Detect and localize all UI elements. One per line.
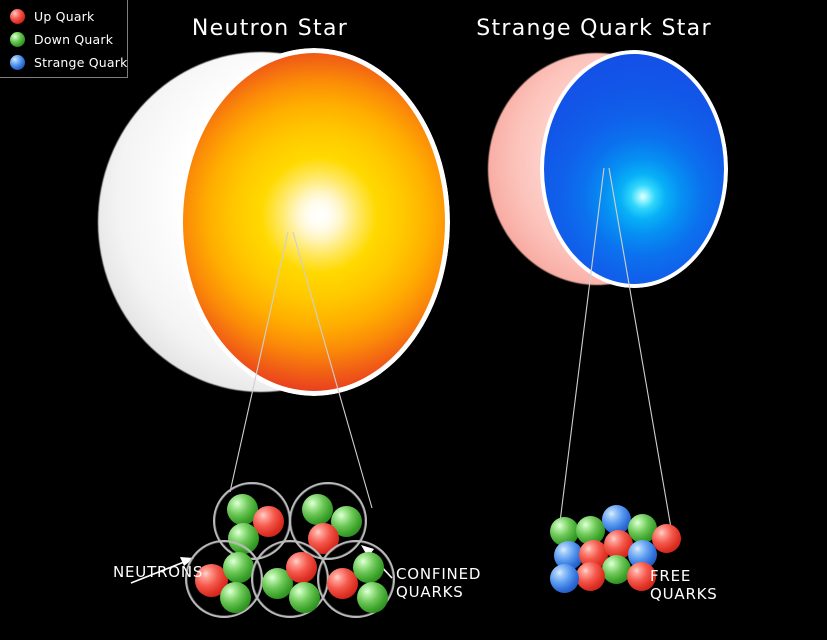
legend-item-down-quark: Down Quark	[10, 28, 113, 50]
neutrons-callout-label: NEUTRONS	[113, 563, 203, 581]
down-quark-sphere	[353, 552, 384, 583]
up-quark-sphere	[286, 552, 317, 583]
up-quark-sphere	[576, 562, 605, 591]
strange-quark-sphere	[550, 564, 579, 593]
neutron-cluster	[185, 482, 395, 602]
strange-quark-star-title: Strange Quark Star	[468, 16, 720, 41]
confined-quarks-callout-label: CONFINED QUARKS	[396, 565, 481, 601]
neutron-star-title: Neutron Star	[160, 16, 380, 41]
strange-quark-dot-icon	[10, 55, 25, 70]
up-quark-sphere	[652, 524, 681, 553]
legend-item-up-quark: Up Quark	[10, 5, 94, 27]
diagram-canvas: Up Quark Down Quark Strange Quark Neutro…	[0, 0, 827, 640]
neutron-shell	[317, 540, 395, 618]
down-quark-dot-icon	[10, 32, 25, 47]
legend-panel: Up Quark Down Quark Strange Quark	[0, 0, 128, 78]
down-quark-sphere	[220, 582, 251, 613]
up-quark-dot-icon	[10, 9, 25, 24]
legend-label-down-quark: Down Quark	[34, 32, 113, 47]
neutron-star-core-gradient	[183, 53, 445, 391]
neutron-star-core-cutaway	[178, 48, 450, 396]
legend-item-strange-quark: Strange Quark	[10, 51, 128, 73]
down-quark-sphere	[302, 494, 333, 525]
legend-label-strange-quark: Strange Quark	[34, 55, 128, 70]
strange-quark-star-sphere	[488, 50, 728, 288]
neutron-star-sphere	[98, 48, 450, 396]
down-quark-sphere	[357, 582, 388, 613]
free-quarks-callout-label: FREE QUARKS	[650, 567, 718, 603]
strange-quark-star-core-gradient	[544, 54, 724, 284]
down-quark-sphere	[289, 582, 320, 613]
strange-quark-star-core-cutaway	[540, 50, 728, 288]
legend-label-up-quark: Up Quark	[34, 9, 94, 24]
down-quark-sphere	[223, 552, 254, 583]
